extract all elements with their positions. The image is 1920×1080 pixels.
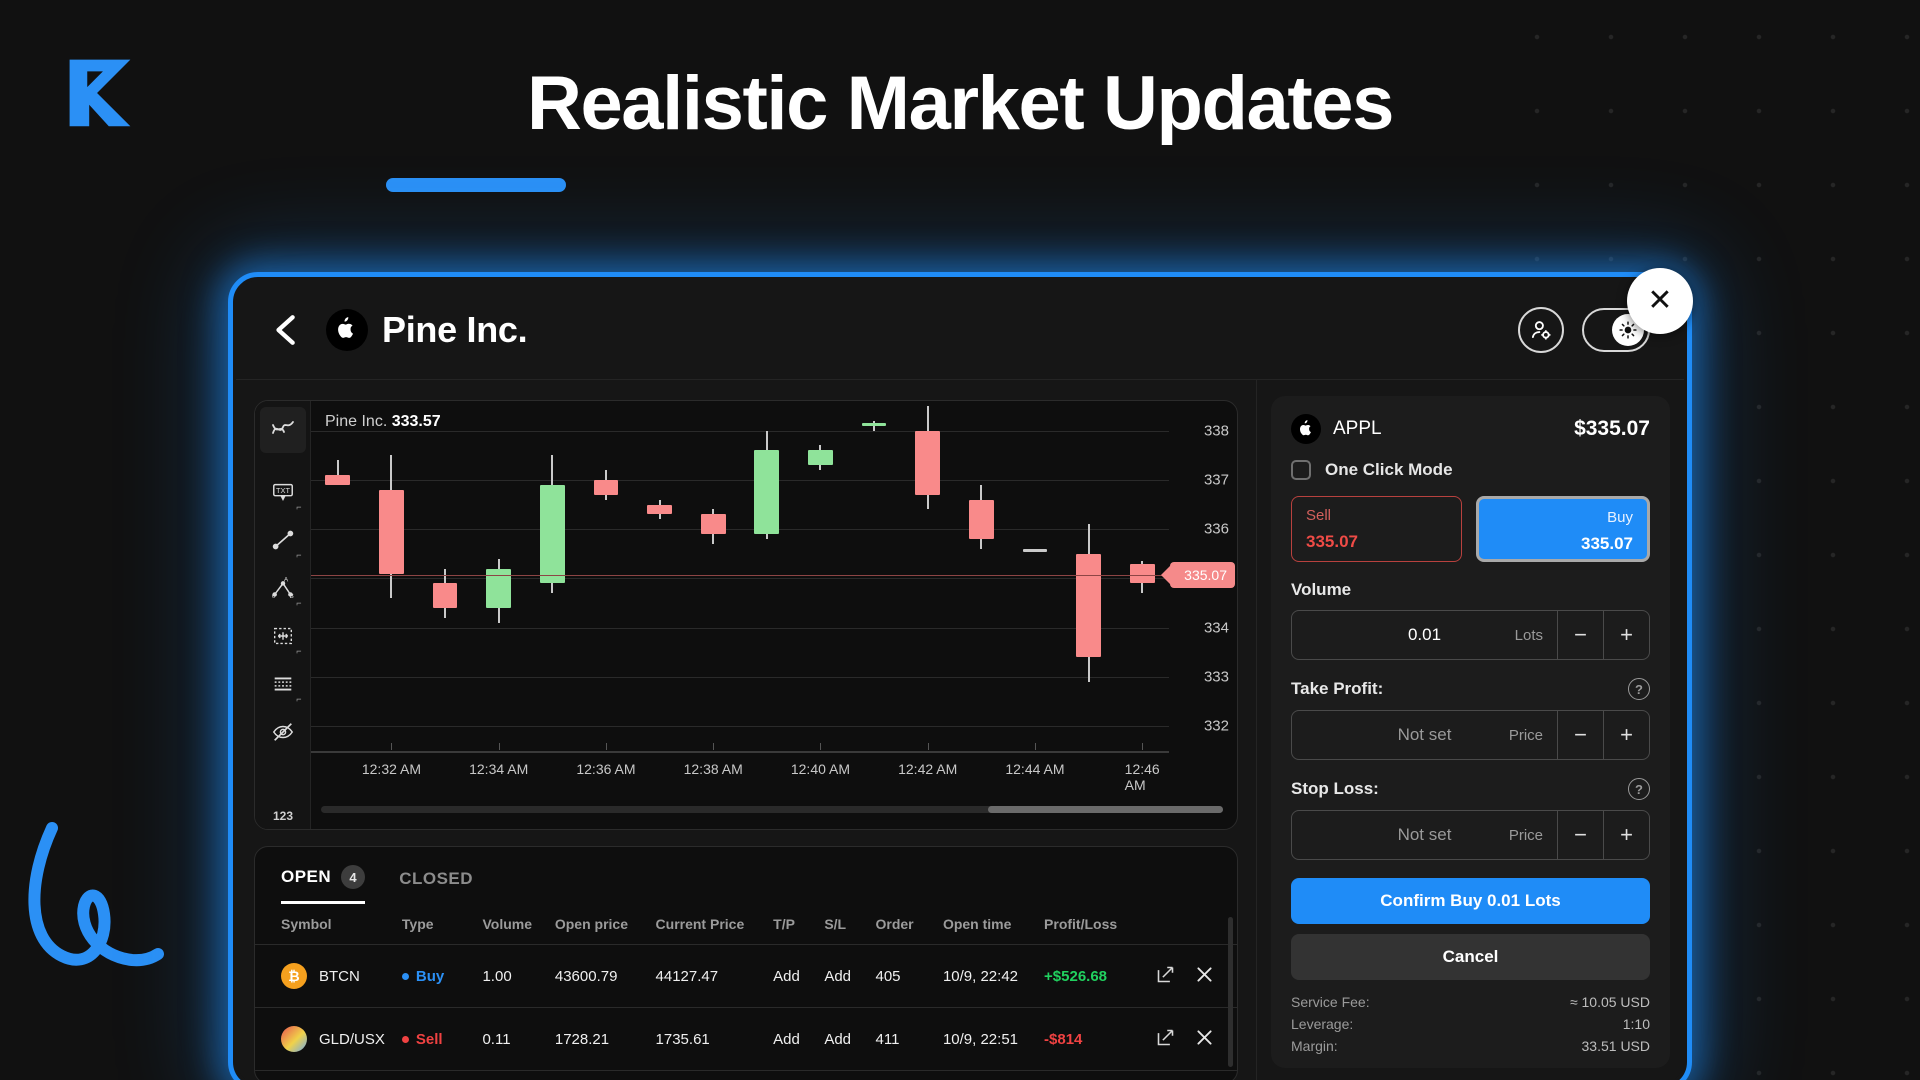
time-axis-tick: 12:44 AM: [1005, 761, 1064, 777]
select-area-icon[interactable]: ⌐: [260, 613, 306, 659]
candle-body: [808, 450, 833, 465]
trade-meta-row: Leverage:1:10: [1291, 1016, 1650, 1032]
buy-price: 335.07: [1493, 534, 1634, 554]
candlestick-plot: [311, 401, 1169, 751]
trade-meta-list: Service Fee:≈ 10.05 USDLeverage:1:10Marg…: [1291, 994, 1650, 1054]
sell-label: Sell: [1306, 507, 1447, 524]
candle-body: [325, 475, 350, 485]
time-axis-tick: 12:38 AM: [684, 761, 743, 777]
volume-stepper[interactable]: 0.01 Lots − +: [1291, 610, 1650, 660]
tool-corner: ⌐: [296, 550, 301, 560]
table-icon[interactable]: ⌐: [260, 661, 306, 707]
symbol-text: BTCN: [319, 968, 360, 985]
zoom-level-indicator: 123: [260, 809, 306, 823]
column-header: Type: [402, 904, 483, 945]
time-axis-tickmark: [499, 743, 500, 750]
candle: [808, 401, 833, 751]
svg-text:A: A: [283, 577, 288, 584]
cell-stop-loss[interactable]: Add: [824, 945, 875, 1008]
chart-legend-name: Pine Inc.: [325, 413, 387, 430]
candle-body: [754, 450, 779, 534]
column-header: T/P: [773, 904, 824, 945]
app-window: Pine Inc.: [236, 280, 1684, 1080]
meta-key: Margin:: [1291, 1038, 1338, 1054]
apple-icon: [326, 309, 368, 351]
svg-text:0: 0: [271, 593, 275, 600]
column-header: Profit/Loss: [1044, 904, 1155, 945]
candle: [325, 401, 350, 751]
table-row[interactable]: ₿BTCNBuy1.0043600.7944127.47AddAdd40510/…: [255, 945, 1237, 1008]
time-axis-tickmark: [713, 743, 714, 750]
sell-button[interactable]: Sell 335.07: [1291, 496, 1462, 562]
volume-increment-button[interactable]: +: [1603, 611, 1649, 659]
time-axis-tick: 12:34 AM: [469, 761, 528, 777]
take-profit-increment-button[interactable]: +: [1603, 711, 1649, 759]
chart-legend-price: 333.57: [392, 413, 441, 430]
apple-icon: [1291, 414, 1321, 444]
candle-body: [1076, 554, 1101, 658]
candle-body: [915, 431, 940, 495]
edit-icon[interactable]: [1155, 1027, 1176, 1052]
cell-profit-loss: -$814: [1044, 1008, 1155, 1071]
candle-body: [433, 583, 458, 608]
chart-horizontal-scrollbar[interactable]: [321, 806, 1223, 813]
orders-table-body: ₿BTCNBuy1.0043600.7944127.47AddAdd40510/…: [255, 945, 1237, 1071]
candle-body: [969, 500, 994, 539]
orders-table: SymbolTypeVolumeOpen priceCurrent PriceT…: [255, 904, 1237, 1071]
candle: [862, 401, 887, 751]
candle: [433, 401, 458, 751]
cell-take-profit[interactable]: Add: [773, 1008, 824, 1071]
candle-body: [862, 423, 887, 426]
candle: [701, 401, 726, 751]
right-column: APPL $335.07 One Click Mode Sell 335.07: [1256, 380, 1684, 1080]
time-axis-tick: 12:42 AM: [898, 761, 957, 777]
cell-current-price: 1735.61: [656, 1008, 774, 1071]
cell-symbol: GLD/USX: [255, 1008, 402, 1071]
candle-body: [594, 480, 619, 495]
svg-text:TXT: TXT: [276, 486, 290, 495]
time-axis-tick: 12:36 AM: [576, 761, 635, 777]
time-axis-tickmark: [928, 743, 929, 750]
tab-open[interactable]: OPEN 4: [281, 865, 365, 904]
buy-button[interactable]: Buy 335.07: [1476, 496, 1651, 562]
volume-value: 0.01: [1408, 625, 1441, 645]
column-header: Current Price: [656, 904, 774, 945]
time-axis-tickmark: [391, 743, 392, 750]
take-profit-label: Take Profit: ?: [1291, 678, 1650, 700]
candle: [969, 401, 994, 751]
title-underline: [386, 178, 566, 192]
candle-body: [701, 514, 726, 534]
trade-meta-row: Service Fee:≈ 10.05 USD: [1291, 994, 1650, 1010]
stop-loss-help-icon[interactable]: ?: [1628, 778, 1650, 800]
tool-corner: ⌐: [296, 646, 301, 656]
close-position-icon[interactable]: [1194, 964, 1215, 989]
trade-header: APPL $335.07: [1291, 414, 1650, 444]
take-profit-help-icon[interactable]: ?: [1628, 678, 1650, 700]
current-price-tag: 335.07: [1170, 562, 1235, 588]
one-click-checkbox[interactable]: [1291, 460, 1311, 480]
stop-loss-increment-button[interactable]: +: [1603, 811, 1649, 859]
volume-decrement-button[interactable]: −: [1557, 611, 1603, 659]
candle: [1130, 401, 1155, 751]
bitcoin-icon: ₿: [281, 963, 307, 989]
edit-icon[interactable]: [1155, 964, 1176, 989]
scrollbar-thumb[interactable]: [988, 806, 1223, 813]
tab-closed-label: CLOSED: [399, 869, 473, 889]
column-header: Volume: [482, 904, 554, 945]
cell-take-profit[interactable]: Add: [773, 945, 824, 1008]
current-price-line: [311, 575, 1169, 576]
cell-symbol: ₿BTCN: [255, 945, 402, 1008]
svg-text:B: B: [289, 593, 293, 600]
chart-legend: Pine Inc. 333.57: [325, 413, 441, 431]
one-click-mode-row[interactable]: One Click Mode: [1291, 460, 1650, 480]
close-icon[interactable]: ✕: [1627, 268, 1693, 334]
price-axis-tick: 337: [1204, 471, 1229, 488]
indicators-icon[interactable]: [260, 407, 306, 453]
stop-loss-value: Not set: [1398, 825, 1452, 845]
cell-open-price: 43600.79: [555, 945, 656, 1008]
orders-card: OPEN 4 CLOSED SymbolTypeVolumeOpen price…: [254, 846, 1238, 1080]
candle: [486, 401, 511, 751]
page-root: Realistic Market Updates Pine Inc.: [0, 0, 1920, 1080]
table-row[interactable]: GLD/USXSell0.111728.211735.61AddAdd41110…: [255, 1008, 1237, 1071]
tab-closed[interactable]: CLOSED: [399, 869, 473, 901]
price-axis-tick: 338: [1204, 422, 1229, 439]
tool-corner: ⌐: [296, 598, 301, 608]
price-chart-card: TXT ⌐ ⌐: [254, 400, 1238, 830]
cell-actions: [1155, 945, 1237, 1008]
candle: [647, 401, 672, 751]
time-axis: 12:32 AM12:34 AM12:36 AM12:38 AM12:40 AM…: [311, 753, 1169, 783]
back-chevron-icon[interactable]: [270, 313, 304, 347]
trend-line-icon[interactable]: ⌐: [260, 517, 306, 563]
app-header: Pine Inc.: [236, 280, 1684, 380]
time-axis-tickmark: [1035, 743, 1036, 750]
meta-key: Leverage:: [1291, 1016, 1353, 1032]
trade-panel: APPL $335.07 One Click Mode Sell 335.07: [1271, 396, 1670, 1068]
candle-body: [1023, 549, 1048, 552]
sell-buy-row: Sell 335.07 Buy 335.07: [1291, 496, 1650, 562]
chart-toolbar: TXT ⌐ ⌐: [255, 401, 311, 829]
buy-label: Buy: [1493, 509, 1634, 526]
stop-loss-label: Stop Loss: ?: [1291, 778, 1650, 800]
price-axis-tick: 334: [1204, 619, 1229, 636]
cell-order-id: 405: [876, 945, 943, 1008]
take-profit-unit: Price: [1509, 727, 1543, 744]
candle: [754, 401, 779, 751]
symbol-title: Pine Inc.: [382, 309, 527, 351]
stop-loss-stepper[interactable]: Not set Price − +: [1291, 810, 1650, 860]
column-header: Open price: [555, 904, 656, 945]
cell-profit-loss: +$526.68: [1044, 945, 1155, 1008]
column-header: S/L: [824, 904, 875, 945]
orders-tabs: OPEN 4 CLOSED: [255, 847, 1237, 904]
confirm-buy-button[interactable]: Confirm Buy 0.01 Lots: [1291, 878, 1650, 924]
take-profit-decrement-button[interactable]: −: [1557, 711, 1603, 759]
column-header-actions: [1155, 904, 1237, 945]
candle: [915, 401, 940, 751]
time-axis-tick: 12:46 AM: [1125, 761, 1160, 793]
cell-stop-loss[interactable]: Add: [824, 1008, 875, 1071]
cell-open-time: 10/9, 22:51: [943, 1008, 1044, 1071]
cell-volume: 0.11: [482, 1008, 554, 1071]
stop-loss-label-text: Stop Loss:: [1291, 779, 1379, 799]
tool-corner: ⌐: [296, 502, 301, 512]
tab-open-label: OPEN: [281, 867, 331, 887]
close-position-icon[interactable]: [1194, 1027, 1215, 1052]
column-header: Symbol: [255, 904, 402, 945]
volume-unit: Lots: [1515, 627, 1543, 644]
stop-loss-input[interactable]: Not set Price: [1292, 811, 1557, 859]
take-profit-input[interactable]: Not set Price: [1292, 711, 1557, 759]
axis-baseline: [311, 751, 1169, 753]
text-annotation-icon[interactable]: TXT ⌐: [260, 469, 306, 515]
take-profit-stepper[interactable]: Not set Price − +: [1291, 710, 1650, 760]
left-column: TXT ⌐ ⌐: [236, 380, 1256, 1080]
volume-label-text: Volume: [1291, 580, 1351, 600]
trade-current-price: $335.07: [1574, 417, 1650, 441]
time-axis-tick: 12:40 AM: [791, 761, 850, 777]
user-settings-icon[interactable]: [1518, 307, 1564, 353]
cell-type: Sell: [402, 1008, 483, 1071]
cell-order-id: 411: [876, 1008, 943, 1071]
hide-drawings-icon[interactable]: [260, 709, 306, 755]
orders-table-header: SymbolTypeVolumeOpen priceCurrent PriceT…: [255, 904, 1237, 945]
volume-label: Volume: [1291, 580, 1650, 600]
price-axis-tick: 332: [1204, 718, 1229, 735]
candle: [1076, 401, 1101, 751]
price-axis-tick: 336: [1204, 521, 1229, 538]
page-title: Realistic Market Updates: [0, 60, 1920, 147]
open-count-badge: 4: [341, 865, 365, 889]
candle: [594, 401, 619, 751]
take-profit-label-text: Take Profit:: [1291, 679, 1383, 699]
volume-input[interactable]: 0.01 Lots: [1292, 611, 1557, 659]
candle-body: [1130, 564, 1155, 584]
measure-ab-icon[interactable]: A 0 B ⌐: [260, 565, 306, 611]
window-body: TXT ⌐ ⌐: [236, 380, 1684, 1080]
candle: [379, 401, 404, 751]
type-dot-icon: [402, 973, 409, 980]
candle-body: [379, 490, 404, 574]
one-click-label: One Click Mode: [1325, 460, 1453, 480]
trade-symbol: APPL: [1333, 418, 1382, 440]
meta-key: Service Fee:: [1291, 994, 1370, 1010]
take-profit-value: Not set: [1398, 725, 1452, 745]
meta-value: ≈ 10.05 USD: [1570, 994, 1650, 1010]
trade-meta-row: Margin:33.51 USD: [1291, 1038, 1650, 1054]
column-header: Open time: [943, 904, 1044, 945]
gold-usd-icon: [281, 1026, 307, 1052]
time-axis-tickmark: [606, 743, 607, 750]
script-flourish-icon: [22, 810, 182, 980]
stop-loss-decrement-button[interactable]: −: [1557, 811, 1603, 859]
time-axis-tick: 12:32 AM: [362, 761, 421, 777]
tool-corner: ⌐: [296, 694, 301, 704]
cancel-button[interactable]: Cancel: [1291, 934, 1650, 980]
cell-current-price: 44127.47: [656, 945, 774, 1008]
cell-open-time: 10/9, 22:42: [943, 945, 1044, 1008]
chart-plot-area[interactable]: Pine Inc. 333.57 338337336335334333332 1…: [311, 401, 1237, 829]
type-dot-icon: [402, 1036, 409, 1043]
column-header: Order: [876, 904, 943, 945]
orders-vertical-scrollbar[interactable]: [1228, 917, 1233, 1067]
cell-volume: 1.00: [482, 945, 554, 1008]
meta-value: 33.51 USD: [1582, 1038, 1650, 1054]
candle-body: [647, 505, 672, 515]
candle: [1023, 401, 1048, 751]
candle-body: [540, 485, 565, 584]
sell-price: 335.07: [1306, 532, 1447, 552]
cell-open-price: 1728.21: [555, 1008, 656, 1071]
cell-type: Buy: [402, 945, 483, 1008]
stop-loss-unit: Price: [1509, 827, 1543, 844]
time-axis-tickmark: [820, 743, 821, 750]
cell-actions: [1155, 1008, 1237, 1071]
meta-value: 1:10: [1623, 1016, 1650, 1032]
time-axis-tickmark: [1142, 743, 1143, 750]
price-axis-tick: 333: [1204, 669, 1229, 686]
symbol-text: GLD/USX: [319, 1031, 385, 1048]
candle: [540, 401, 565, 751]
